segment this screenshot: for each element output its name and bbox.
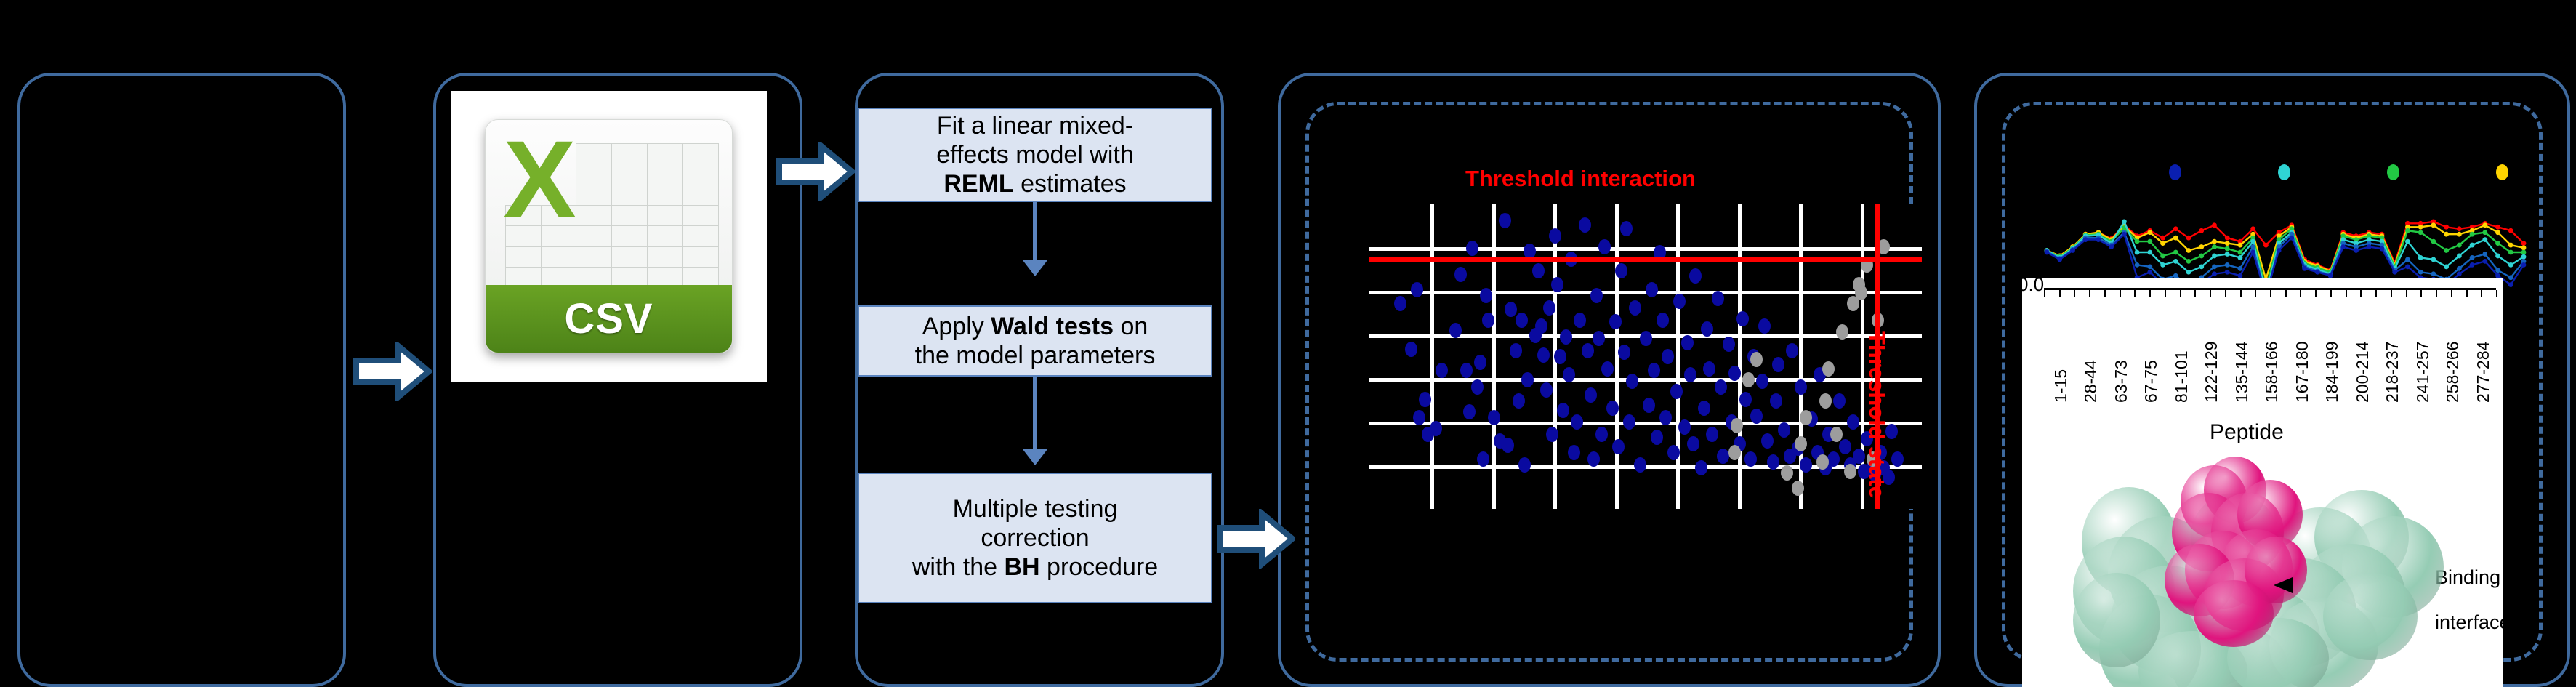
- peptide-tick-label: 200-214: [2353, 342, 2372, 403]
- chart-data-point: [2160, 236, 2165, 241]
- chart-data-point: [2263, 243, 2269, 248]
- x-axis-tick: [2194, 290, 2196, 297]
- peptide-tick-label: 258-266: [2443, 342, 2463, 403]
- chart-data-point: [2470, 255, 2475, 260]
- input-panel: [17, 73, 346, 687]
- y-axis-tick-label: 0.0: [2018, 273, 2044, 296]
- scatter-point-nonsignificant: [1742, 372, 1755, 387]
- scatter-point-significant: [1505, 302, 1517, 317]
- scatter-point-significant: [1657, 313, 1669, 328]
- chart-data-point: [2418, 255, 2423, 260]
- scatter-point-significant: [1728, 366, 1741, 381]
- chart-data-point: [2135, 239, 2140, 244]
- peptide-tick-label: 81-101: [2172, 350, 2191, 403]
- threshold-interaction-line: [1369, 257, 1922, 262]
- chart-data-point: [2147, 230, 2152, 235]
- chart-data-point: [2495, 230, 2500, 235]
- chart-data-point: [2418, 270, 2423, 275]
- x-axis-tick: [2391, 290, 2392, 297]
- scatter-point-significant: [1703, 361, 1715, 377]
- x-axis-tick: [2346, 290, 2347, 297]
- x-axis-tick: [2330, 290, 2332, 297]
- chart-data-point: [2431, 271, 2436, 276]
- chart-data-point: [2160, 241, 2165, 246]
- scatter-point-significant: [1673, 294, 1686, 309]
- scatter-point-significant: [1689, 268, 1702, 284]
- scatter-point-significant: [1750, 409, 1763, 424]
- scatter-point-significant: [1471, 379, 1484, 395]
- x-axis-tick: [2180, 290, 2181, 297]
- protein-surface-chain-b: [2194, 580, 2274, 647]
- scatter-point-significant: [1695, 460, 1707, 475]
- scatter-point-significant: [1563, 367, 1575, 382]
- chart-data-point: [2160, 254, 2165, 259]
- chart-data-point: [2444, 248, 2449, 253]
- x-axis-tick: [2406, 290, 2407, 297]
- scatter-point-significant: [1436, 363, 1448, 378]
- chart-data-point: [2083, 237, 2088, 242]
- chart-data-point: [2173, 236, 2178, 241]
- scatter-point-nonsignificant: [1816, 454, 1829, 470]
- x-axis-tick: [2451, 290, 2452, 297]
- scatter-point-significant: [1449, 323, 1462, 338]
- scatter-point-significant: [1590, 288, 1603, 303]
- scatter-point-significant: [1662, 349, 1674, 364]
- scatter-point-significant: [1535, 318, 1547, 334]
- scatter-point-significant: [1474, 355, 1486, 370]
- legend-marker: [2387, 164, 2399, 180]
- scatter-point-significant: [1646, 282, 1658, 297]
- annotation-arrowhead: [2274, 577, 2293, 593]
- chart-data-point: [2057, 257, 2062, 262]
- scatter-point-significant: [1681, 335, 1694, 350]
- step-wald-tests[interactable]: Apply Wald tests on the model parameters: [858, 305, 1212, 377]
- chart-data-point: [2070, 248, 2075, 253]
- scatter-point-significant: [1778, 422, 1790, 438]
- scatter-point-significant: [1827, 451, 1840, 467]
- scatter-point-significant: [1513, 393, 1525, 409]
- scatter-point-significant: [1670, 384, 1683, 399]
- scatter-point-significant: [1659, 410, 1672, 425]
- gridline-horizontal: [1369, 378, 1922, 382]
- chart-data-point: [2225, 262, 2230, 268]
- connector-step1-step2-head: [1023, 260, 1047, 276]
- chart-data-point: [2495, 268, 2500, 273]
- scatter-point-significant: [1615, 263, 1627, 278]
- chart-data-point: [2444, 225, 2449, 230]
- chart-data-point: [2212, 244, 2217, 249]
- scatter-point-significant: [1499, 213, 1511, 228]
- scatter-point-significant: [1640, 331, 1652, 346]
- chart-data-point: [2482, 252, 2487, 257]
- protein-surface-chain-a: [2323, 573, 2418, 660]
- peptide-tick-label: 218-237: [2383, 342, 2402, 403]
- chart-data-point: [2405, 264, 2410, 269]
- step2-post: on: [1114, 313, 1148, 340]
- legend-marker: [2169, 164, 2181, 180]
- chart-data-point: [2173, 250, 2178, 255]
- scatter-point-significant: [1593, 331, 1605, 346]
- scatter-point-nonsignificant: [1792, 481, 1804, 496]
- x-axis-tick: [2466, 290, 2468, 297]
- scatter-point-significant: [1557, 403, 1569, 418]
- excel-x-letter: X: [491, 124, 589, 236]
- scatter-point-nonsignificant: [1750, 352, 1763, 367]
- step3-bold: BH: [1004, 553, 1039, 581]
- x-axis-tick: [2360, 290, 2362, 297]
- scatter-point-significant: [1598, 239, 1611, 254]
- scatter-point-significant: [1839, 439, 1851, 454]
- csv-icon-body: X CSV: [485, 119, 733, 353]
- step1-bold: REML: [943, 170, 1013, 198]
- scatter-point-significant: [1767, 454, 1779, 470]
- chart-data-point: [2225, 241, 2230, 246]
- chart-data-point: [2521, 241, 2527, 246]
- chart-data-point: [2482, 222, 2487, 228]
- csv-label-text: CSV: [564, 294, 653, 343]
- chart-data-point: [2367, 244, 2372, 249]
- chart-data-point: [2495, 225, 2500, 230]
- peptide-tick-label: 122-129: [2202, 342, 2221, 403]
- chart-data-point: [2238, 243, 2243, 248]
- spreadsheet-cell: [647, 225, 684, 247]
- scatter-point-significant: [1744, 451, 1757, 467]
- chart-data-point: [2147, 239, 2152, 244]
- scatter-point-significant: [1891, 451, 1904, 467]
- chart-data-point: [2380, 246, 2385, 252]
- chart-data-point: [2109, 244, 2114, 249]
- scatter-point-nonsignificant: [1836, 324, 1848, 340]
- scatter-point-significant: [1568, 445, 1580, 460]
- x-axis-tick: [2165, 290, 2166, 297]
- chart-data-point: [2444, 264, 2449, 269]
- chart-data-point: [2225, 270, 2230, 275]
- step-multiple-testing[interactable]: Multiple testing correction with the BH …: [858, 473, 1212, 603]
- x-axis-tick: [2315, 290, 2317, 297]
- scatter-point-significant: [1554, 349, 1566, 364]
- scatter-point-nonsignificant: [1822, 361, 1835, 377]
- scatter-point-significant: [1430, 421, 1442, 436]
- x-axis-tick: [2255, 290, 2256, 297]
- spreadsheet-cell: [611, 143, 648, 165]
- spreadsheet-cell: [647, 164, 684, 185]
- chart-data-point: [2470, 243, 2475, 248]
- chart-data-point: [2521, 254, 2527, 260]
- step1-line3: estimates: [1014, 170, 1127, 198]
- chart-data-point: [2212, 271, 2217, 276]
- chart-data-point: [2277, 248, 2282, 253]
- threshold-interaction-label: Threshold interaction: [1465, 166, 1696, 192]
- spreadsheet-cell: [682, 225, 719, 247]
- spreadsheet-cell: [611, 225, 648, 247]
- scatter-point-significant: [1758, 318, 1771, 334]
- chart-data-point: [2470, 262, 2475, 268]
- gridline-vertical: [1676, 204, 1680, 509]
- step2-pre: Apply: [922, 313, 991, 340]
- chart-data-point: [2122, 232, 2127, 237]
- scatter-point-significant: [1715, 379, 1727, 395]
- gridline-horizontal: [1369, 422, 1922, 425]
- spreadsheet-cell: [682, 205, 719, 227]
- scatter-point-significant: [1698, 401, 1710, 416]
- spreadsheet-cell: [611, 185, 648, 206]
- x-axis-tick: [2089, 290, 2090, 297]
- spreadsheet-cell: [611, 246, 648, 268]
- scatter-point-significant: [1770, 393, 1782, 409]
- scatter-point-significant: [1460, 363, 1473, 378]
- chart-data-point: [2160, 262, 2165, 268]
- chart-data-point: [2147, 264, 2152, 269]
- scatter-point-significant: [1612, 439, 1625, 454]
- scatter-point-significant: [1601, 361, 1614, 377]
- chart-data-point: [2457, 243, 2462, 248]
- scatter-point-significant: [1585, 387, 1597, 403]
- scatter-point-significant: [1516, 313, 1528, 328]
- chart-data-point: [2250, 239, 2255, 244]
- scatter-point-significant: [1684, 367, 1696, 382]
- scatter-point-significant: [1723, 337, 1735, 352]
- step2-line2: the model parameters: [915, 342, 1156, 369]
- scatter-point-significant: [1761, 433, 1774, 449]
- step1-line2: effects model with: [936, 141, 1134, 169]
- scatter-point-significant: [1687, 436, 1699, 451]
- scatter-point-significant: [1634, 457, 1646, 473]
- scatter-point-significant: [1595, 427, 1608, 442]
- peptide-tick-label: 158-166: [2262, 342, 2282, 403]
- chart-data-point: [2508, 250, 2513, 255]
- scatter-point-significant: [1833, 393, 1846, 409]
- peptide-tick-label: 63-73: [2112, 360, 2131, 403]
- annotation-line1: Binding: [2435, 566, 2500, 588]
- x-axis-tick: [2074, 290, 2075, 297]
- step2-bold: Wald tests: [991, 313, 1114, 340]
- x-axis-tick: [2225, 290, 2226, 297]
- chart-data-point: [2457, 266, 2462, 271]
- scatter-point-nonsignificant: [1844, 464, 1856, 479]
- x-axis-tick: [2481, 290, 2482, 297]
- chart-data-point: [2392, 270, 2397, 275]
- scatter-point-significant: [1786, 343, 1798, 358]
- scatter-point-significant: [1739, 392, 1752, 407]
- chart-data-point: [2199, 254, 2204, 259]
- block-arrow-model-to-results: [1217, 509, 1295, 569]
- scatter-point-significant: [1717, 449, 1729, 464]
- scatter-point-significant: [1582, 343, 1594, 358]
- connector-step1-step2: [1033, 202, 1037, 263]
- scatter-point-nonsignificant: [1781, 465, 1793, 481]
- spreadsheet-cell: [611, 205, 648, 227]
- scatter-point-significant: [1463, 404, 1476, 419]
- chart-data-point: [2457, 232, 2462, 237]
- spreadsheet-cell: [541, 246, 578, 268]
- chart-data-point: [2225, 246, 2230, 252]
- connector-step2-step3-head: [1023, 449, 1047, 465]
- peptide-tick-label: 67-75: [2141, 360, 2161, 403]
- spreadsheet-cell: [647, 205, 684, 227]
- chart-data-point: [2238, 255, 2243, 260]
- chart-data-point: [2135, 262, 2140, 268]
- chart-data-point: [2431, 239, 2436, 244]
- spreadsheet-cell: [682, 164, 719, 185]
- peptide-axis-box: 0.0 1-1528-4463-7367-7581-101122-129135-…: [2022, 278, 2503, 687]
- scatter-point-significant: [1587, 451, 1600, 467]
- x-axis-tick: [2044, 290, 2045, 297]
- csv-label-band: CSV: [486, 285, 732, 353]
- chart-data-point: [2508, 282, 2513, 287]
- peptide-tick-label: 184-199: [2322, 342, 2342, 403]
- chart-data-point: [2199, 244, 2204, 249]
- chart-data-point: [2147, 270, 2152, 275]
- spreadsheet-cell: [611, 164, 648, 185]
- threshold-state-label: Threshold state: [1864, 331, 1890, 499]
- scatter-point-significant: [1736, 311, 1749, 326]
- spreadsheet-cell: [647, 143, 684, 165]
- gridline-vertical: [1738, 204, 1742, 509]
- scatter-point-significant: [1651, 430, 1663, 445]
- csv-file-icon: X CSV: [451, 91, 767, 382]
- scatter-point-significant: [1706, 427, 1718, 442]
- chart-data-point: [2173, 226, 2178, 231]
- chart-data-point: [2508, 262, 2513, 268]
- chart-data-point: [2495, 241, 2500, 246]
- legend-marker: [2496, 164, 2508, 180]
- connector-step2-step3: [1033, 377, 1037, 452]
- scatter-point-significant: [1629, 300, 1641, 316]
- chart-data-point: [2418, 230, 2423, 235]
- block-arrow-input-to-data: [353, 342, 432, 401]
- scatter-point-significant: [1574, 313, 1586, 328]
- chart-data-point: [2212, 239, 2217, 244]
- spreadsheet-cell: [647, 185, 684, 206]
- scatter-point-significant: [1502, 438, 1514, 453]
- chart-data-point: [2250, 244, 2255, 249]
- chart-data-point: [2431, 222, 2436, 228]
- chart-data-point: [2405, 239, 2410, 244]
- block-arrow-data-to-model: [776, 142, 855, 201]
- chart-data-point: [2225, 236, 2230, 241]
- chart-data-point: [2405, 228, 2410, 233]
- chart-data-point: [2212, 264, 2217, 269]
- peptide-tick-label: 28-44: [2081, 360, 2101, 403]
- scatter-point-significant: [1847, 414, 1859, 430]
- x-axis-tick: [2059, 290, 2061, 297]
- peptide-tick-label: 167-180: [2293, 342, 2312, 403]
- scatter-point-significant: [1678, 419, 1691, 435]
- chart-data-point: [2418, 225, 2423, 230]
- scatter-point-significant: [1537, 347, 1550, 363]
- chart-data-point: [2521, 250, 2527, 255]
- protein-surface-chain-a: [2073, 573, 2160, 667]
- scatter-point-significant: [1712, 291, 1724, 306]
- chart-data-point: [2135, 250, 2140, 255]
- gridline-vertical: [1430, 204, 1434, 509]
- scatter-point-nonsignificant: [1728, 445, 1741, 460]
- x-axis-tick: [2496, 290, 2497, 297]
- step3-post: procedure: [1040, 553, 1159, 581]
- spreadsheet-cell: [682, 185, 719, 206]
- step3-line2: correction: [981, 524, 1089, 552]
- chart-data-point: [2238, 266, 2243, 271]
- chart-data-point: [2482, 230, 2487, 235]
- chart-data-point: [2405, 257, 2410, 262]
- spreadsheet-cell: [505, 246, 542, 268]
- chart-data-point: [2212, 254, 2217, 259]
- x-axis-tick: [2104, 290, 2106, 297]
- scatter-point-nonsignificant: [1731, 418, 1743, 433]
- spreadsheet-cell: [647, 246, 684, 268]
- chart-data-point: [2186, 270, 2191, 275]
- chart-data-point: [2457, 271, 2462, 276]
- x-axis-tick: [2285, 290, 2287, 297]
- x-axis-tick: [2436, 290, 2437, 297]
- chart-data-point: [2482, 259, 2487, 264]
- chart-data-point: [2250, 250, 2255, 255]
- step1-line1: Fit a linear mixed-: [937, 112, 1133, 140]
- scatter-point-significant: [1579, 217, 1591, 233]
- gridline-vertical: [1492, 204, 1496, 509]
- x-axis-tick: [2300, 290, 2301, 297]
- scatter-point-significant: [1626, 374, 1638, 389]
- scatter-point-significant: [1405, 342, 1417, 357]
- chart-data-point: [2212, 222, 2217, 228]
- scatter-point-significant: [1623, 414, 1635, 430]
- scatter-point-significant: [1419, 392, 1431, 407]
- scatter-point-significant: [1466, 241, 1478, 256]
- gridline-horizontal: [1369, 247, 1922, 251]
- scatter-point-significant: [1571, 414, 1583, 430]
- scatter-point-significant: [1477, 451, 1489, 467]
- chart-data-point: [2482, 237, 2487, 242]
- chart-data-point: [2521, 245, 2527, 250]
- scatter-point-significant: [1549, 228, 1561, 244]
- step3-pre: with the: [912, 553, 1005, 581]
- scatter-point-significant: [1532, 263, 1545, 278]
- scatter-point-significant: [1618, 345, 1630, 360]
- chart-data-point: [2457, 226, 2462, 231]
- scatter-point-nonsignificant: [1795, 436, 1807, 451]
- spreadsheet-cell: [576, 246, 613, 268]
- scatter-point-significant: [1411, 282, 1423, 297]
- scatter-point-significant: [1609, 314, 1622, 329]
- x-axis-tick: [2210, 290, 2211, 297]
- chart-data-point: [2250, 226, 2255, 231]
- scatter-point-significant: [1795, 379, 1807, 395]
- scatter-point-significant: [1521, 372, 1534, 387]
- chart-data-point: [2147, 250, 2152, 255]
- x-axis-title: Peptide: [2210, 420, 2284, 445]
- x-axis-tick: [2134, 290, 2136, 297]
- step-fit-model[interactable]: Fit a linear mixed- effects model with R…: [858, 108, 1212, 202]
- chart-data-point: [2122, 219, 2127, 224]
- scatter-point-significant: [1480, 288, 1492, 303]
- chart-data-point: [2096, 237, 2101, 242]
- volcano-scatter-plot: [1369, 204, 1922, 509]
- scatter-point-significant: [1546, 427, 1558, 442]
- legend-marker: [2278, 164, 2290, 180]
- x-axis-tick: [2375, 290, 2377, 297]
- chart-data-point: [2354, 248, 2359, 253]
- scatter-point-significant: [1643, 398, 1655, 413]
- scatter-point-significant: [1482, 313, 1494, 328]
- chart-data-point: [2457, 254, 2462, 259]
- scatter-point-nonsignificant: [1819, 393, 1832, 409]
- chart-data-point: [2186, 248, 2191, 253]
- chart-data-point: [2444, 232, 2449, 237]
- chart-data-point: [2470, 232, 2475, 237]
- peptide-tick-label: 241-257: [2413, 342, 2433, 403]
- scatter-point-significant: [1772, 357, 1784, 372]
- scatter-point-significant: [1510, 343, 1522, 358]
